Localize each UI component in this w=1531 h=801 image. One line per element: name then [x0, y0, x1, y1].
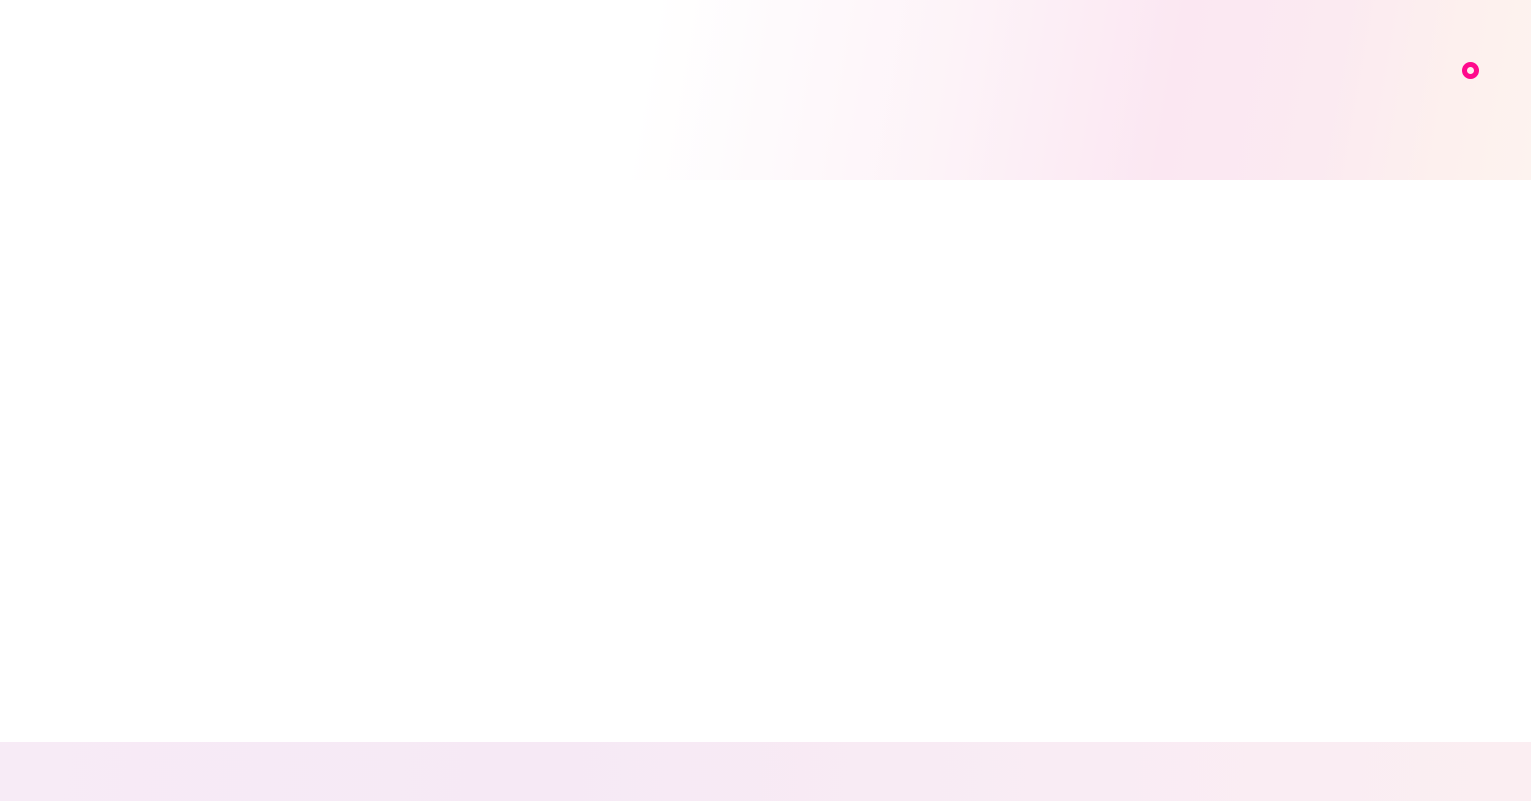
charts-area	[0, 180, 1531, 742]
ring-dot-icon	[1462, 62, 1479, 79]
header-banner	[0, 0, 1531, 180]
gradus-logo	[1462, 60, 1475, 79]
footer-band	[0, 742, 1531, 801]
